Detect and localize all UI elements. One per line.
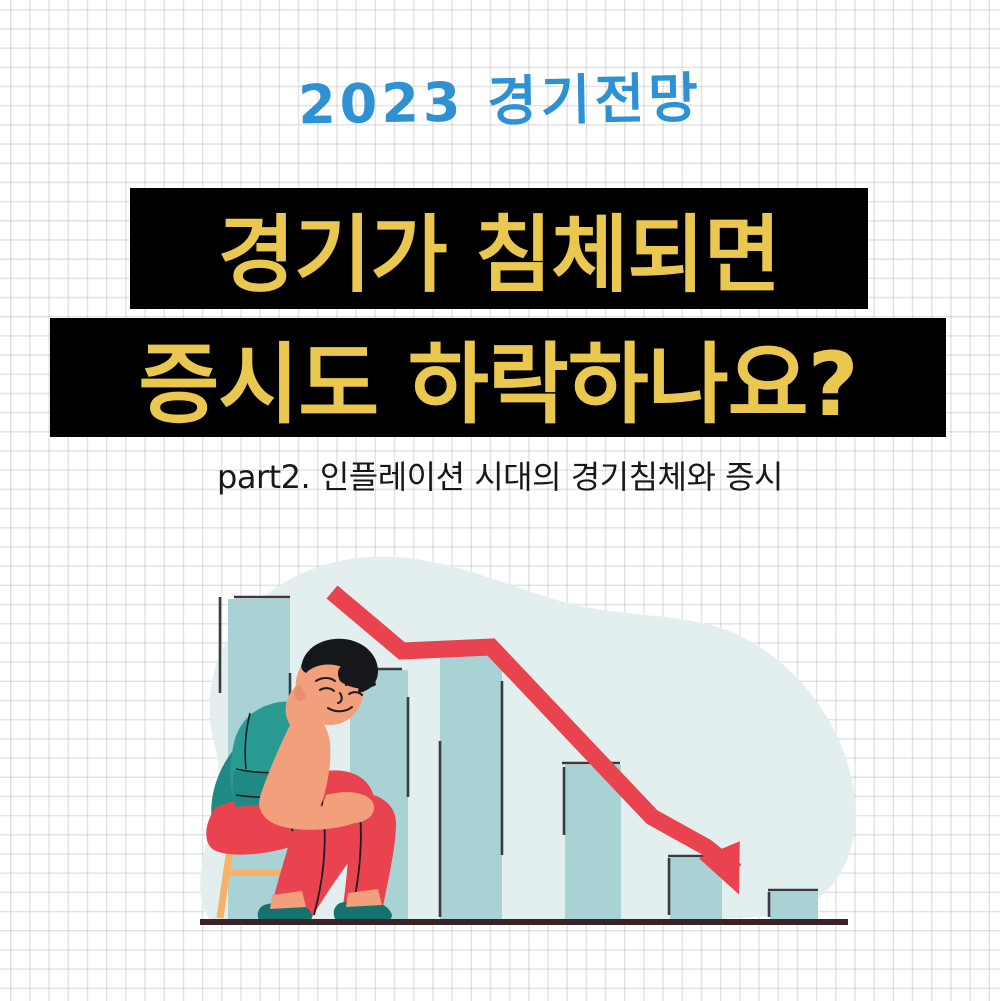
headline-text-first-line: 경기가 침체되면: [218, 188, 780, 309]
headline-band-first-line: 경기가 침체되면: [130, 188, 868, 309]
subtitle-text: part2. 인플레이션 시대의 경기침체와 증시: [0, 452, 1000, 498]
bar-4: [565, 765, 621, 920]
headline-band-second-line: 증시도 하락하나요?: [50, 318, 946, 437]
poster-canvas: 2023 경기전망 경기가 침체되면 증시도 하락하나요? part2. 인플레…: [0, 0, 1000, 1001]
bar-3: [440, 650, 502, 920]
headline-text-second-line: 증시도 하락하나요?: [138, 314, 857, 441]
ground-line: [200, 919, 848, 925]
illustration-sad-investor: [150, 545, 870, 965]
bar-6: [770, 892, 818, 920]
